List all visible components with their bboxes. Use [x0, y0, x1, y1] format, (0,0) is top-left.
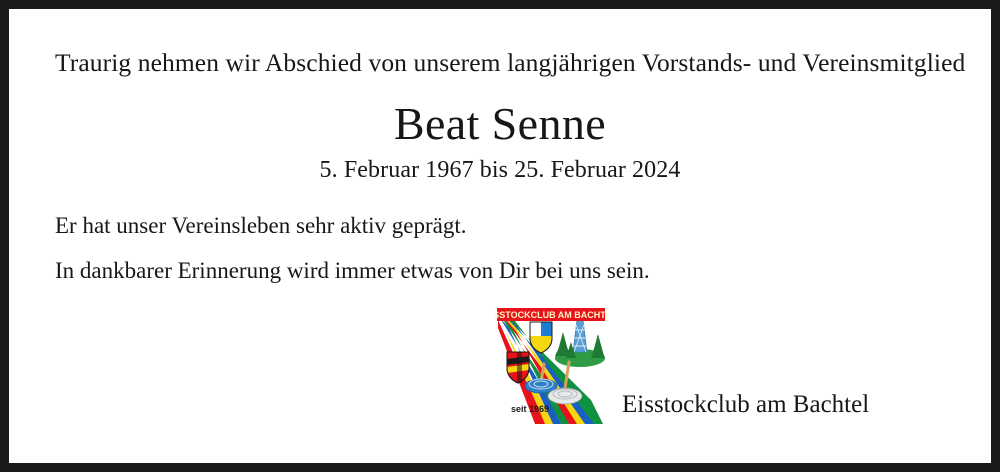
obituary-notice-body: Traurig nehmen wir Abschied von unserem …	[9, 9, 991, 463]
club-logo-icon: EISSTOCKCLUB AM BACHTEL seit 1969	[495, 306, 607, 424]
club-banner-text: EISSTOCKCLUB AM BACHTEL	[495, 310, 607, 320]
club-name: Eisstockclub am Bachtel	[622, 391, 869, 419]
club-signature: EISSTOCKCLUB AM BACHTEL seit 1969 Eissto…	[495, 306, 915, 431]
intro-text: Traurig nehmen wir Abschied von unserem …	[55, 48, 965, 78]
deceased-name: Beat Senne	[9, 97, 991, 150]
club-founded-text: seit 1969	[511, 404, 549, 414]
tribute-line-one: Er hat unser Vereinsleben sehr aktiv gep…	[55, 213, 467, 239]
tribute-line-two: In dankbarer Erinnerung wird immer etwas…	[55, 258, 650, 284]
obituary-notice-frame: Traurig nehmen wir Abschied von unserem …	[0, 0, 1000, 472]
life-dates: 5. Februar 1967 bis 25. Februar 2024	[9, 157, 991, 184]
club-banner: EISSTOCKCLUB AM BACHTEL	[495, 308, 607, 321]
